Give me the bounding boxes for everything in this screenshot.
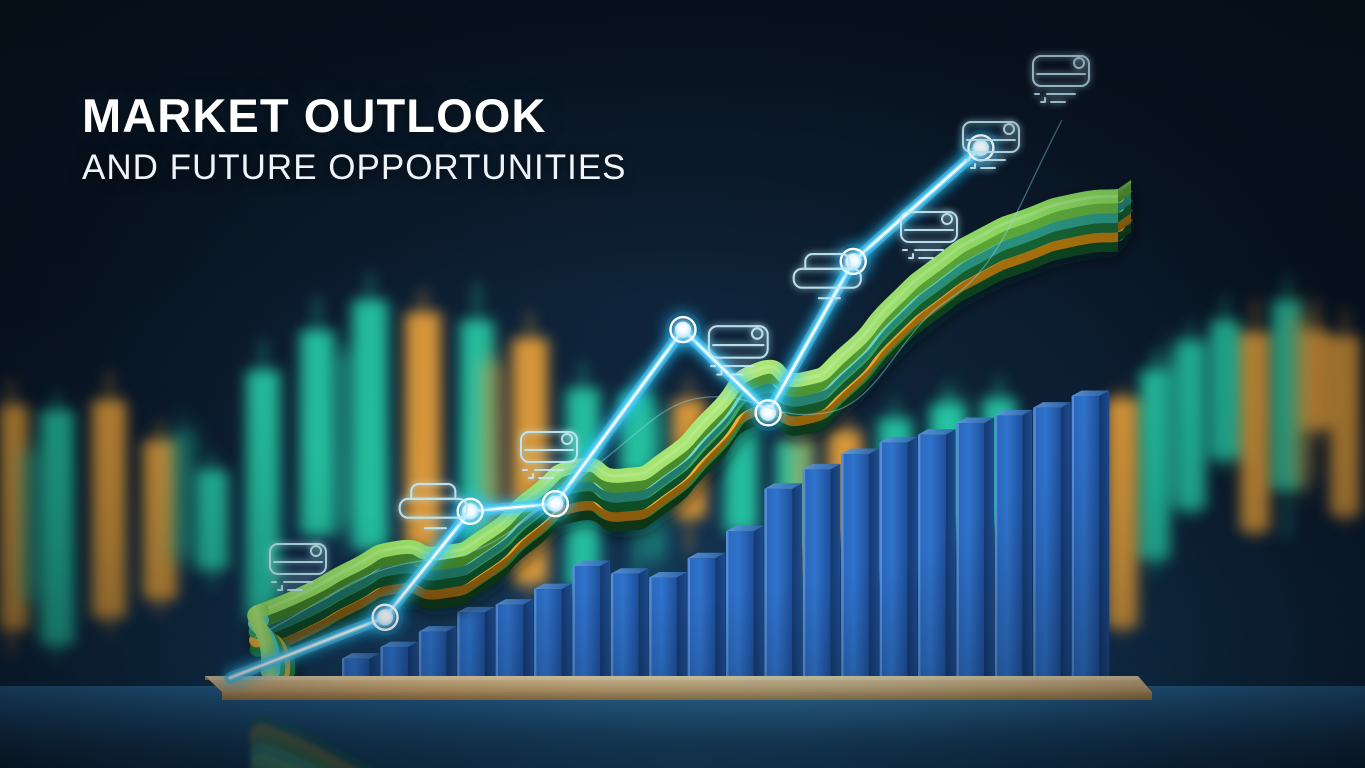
data-node bbox=[835, 243, 871, 279]
document-card-icon bbox=[1033, 56, 1089, 102]
bar-column bbox=[611, 568, 649, 678]
page-title: MARKET OUTLOOK bbox=[82, 92, 627, 139]
page-subtitle: AND FUTURE OPPORTUNITIES bbox=[82, 150, 627, 185]
bar-column bbox=[419, 626, 457, 678]
bar-column bbox=[1033, 402, 1071, 678]
bar-column bbox=[880, 437, 918, 678]
bar-column bbox=[342, 653, 380, 678]
data-node bbox=[367, 599, 403, 635]
bar-column bbox=[572, 560, 610, 678]
bar-column bbox=[803, 464, 841, 678]
bar-column bbox=[995, 410, 1033, 678]
bar-column bbox=[1072, 391, 1110, 679]
bar-column bbox=[688, 553, 726, 678]
bar-column bbox=[918, 429, 956, 678]
bar-column bbox=[380, 642, 418, 678]
title-block: MARKET OUTLOOK AND FUTURE OPPORTUNITIES bbox=[82, 92, 627, 185]
bar-column bbox=[726, 526, 764, 678]
bar-column bbox=[649, 572, 687, 678]
data-node bbox=[537, 486, 573, 522]
data-node bbox=[665, 312, 701, 348]
bar-column bbox=[457, 607, 495, 678]
base-plate bbox=[205, 676, 1152, 700]
bar-column bbox=[496, 599, 534, 678]
bar-column bbox=[841, 448, 879, 678]
data-node bbox=[750, 395, 786, 431]
bar-column bbox=[764, 483, 802, 678]
bar-column bbox=[956, 418, 994, 678]
poster-canvas: MARKET OUTLOOK AND FUTURE OPPORTUNITIES bbox=[0, 0, 1365, 768]
bar-column bbox=[534, 584, 572, 678]
